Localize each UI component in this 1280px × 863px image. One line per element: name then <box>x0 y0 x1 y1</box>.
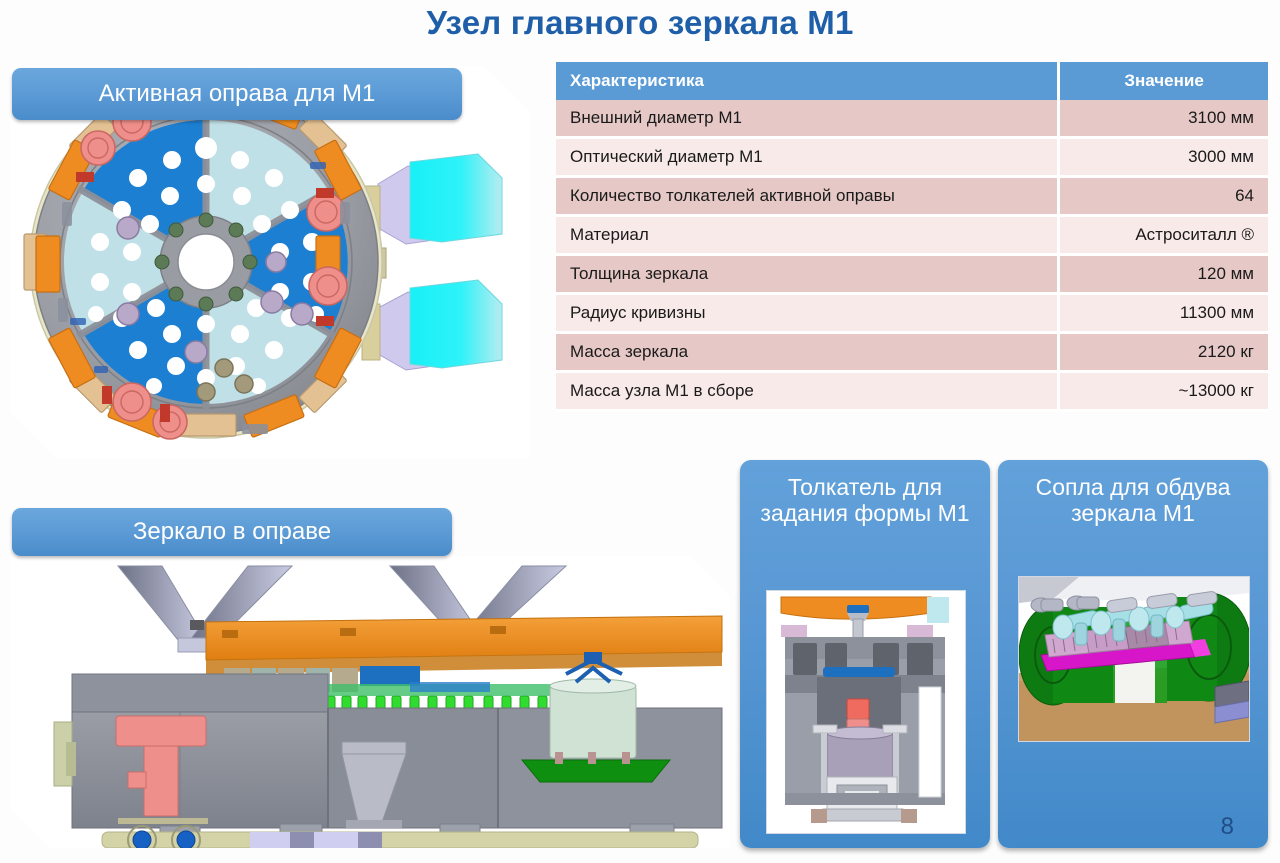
spec-value-cell: 64 <box>1060 178 1268 217</box>
spec-table: Характеристика Значение Внешний диаметр … <box>556 62 1268 412</box>
actuator-panel-title: Толкатель для задания формы М1 <box>748 474 982 526</box>
actuator-panel: Толкатель для задания формы М1 <box>740 460 990 848</box>
slide-root: Узел главного зеркала М1 <box>0 0 1280 863</box>
mirror-plate <box>190 616 722 674</box>
active-cell-figure <box>10 66 530 458</box>
spec-name-cell: Внешний диаметр М1 <box>556 100 1060 139</box>
spec-value-cell: 2120 кг <box>1060 334 1268 373</box>
spec-name-cell: Количество толкателей активной оправы <box>556 178 1060 217</box>
actuator-figure <box>767 591 965 833</box>
mirror-in-cell-banner: Зеркало в оправе <box>12 508 452 556</box>
spec-name-cell: Масса узла М1 в сборе <box>556 373 1060 412</box>
spec-name-cell: Оптический диаметр М1 <box>556 139 1060 178</box>
nozzles-image <box>1018 576 1250 742</box>
spec-value-cell: Астроситалл ® <box>1060 217 1268 256</box>
active-cell-banner-label: Активная оправа для М1 <box>99 81 376 108</box>
spec-table-header-value: Значение <box>1060 62 1268 100</box>
page-number: 8 <box>1221 813 1234 841</box>
spec-name-cell: Радиус кривизны <box>556 295 1060 334</box>
spec-name-cell: Материал <box>556 217 1060 256</box>
spec-table-header-row: Характеристика Значение <box>556 62 1268 100</box>
spec-value-cell: 3000 мм <box>1060 139 1268 178</box>
side-block <box>1215 681 1249 723</box>
nozzles-figure <box>1019 577 1249 741</box>
central-hole <box>178 234 234 290</box>
table-row: Масса зеркала2120 кг <box>556 334 1268 373</box>
nozzles-panel: Сопла для обдува зеркала М1 <box>998 460 1268 848</box>
active-cell-banner: Активная оправа для М1 <box>12 68 462 120</box>
table-row: Толщина зеркала120 мм <box>556 256 1268 295</box>
spec-value-cell: 120 мм <box>1060 256 1268 295</box>
spec-name-cell: Масса зеркала <box>556 334 1060 373</box>
nozzles-panel-title: Сопла для обдува зеркала М1 <box>1006 474 1260 526</box>
table-row: Масса узла М1 в сборе~13000 кг <box>556 373 1268 412</box>
spec-name-cell: Толщина зеркала <box>556 256 1060 295</box>
active-cell-card <box>10 66 530 458</box>
mirror-in-cell-card <box>10 556 730 848</box>
spec-table-header-name: Характеристика <box>556 62 1060 100</box>
table-row: Количество толкателей активной оправы64 <box>556 178 1268 217</box>
actuator-image <box>766 590 966 834</box>
table-row: Оптический диаметр М13000 мм <box>556 139 1268 178</box>
table-row: Внешний диаметр М13100 мм <box>556 100 1268 139</box>
spec-value-cell: 3100 мм <box>1060 100 1268 139</box>
table-row: МатериалАстроситалл ® <box>556 217 1268 256</box>
mirror-in-cell-banner-label: Зеркало в оправе <box>133 519 331 546</box>
spec-value-cell: ~13000 кг <box>1060 373 1268 412</box>
mirror-in-cell-figure <box>10 556 730 848</box>
page-title: Узел главного зеркала М1 <box>0 4 1280 42</box>
spec-value-cell: 11300 мм <box>1060 295 1268 334</box>
table-row: Радиус кривизны11300 мм <box>556 295 1268 334</box>
